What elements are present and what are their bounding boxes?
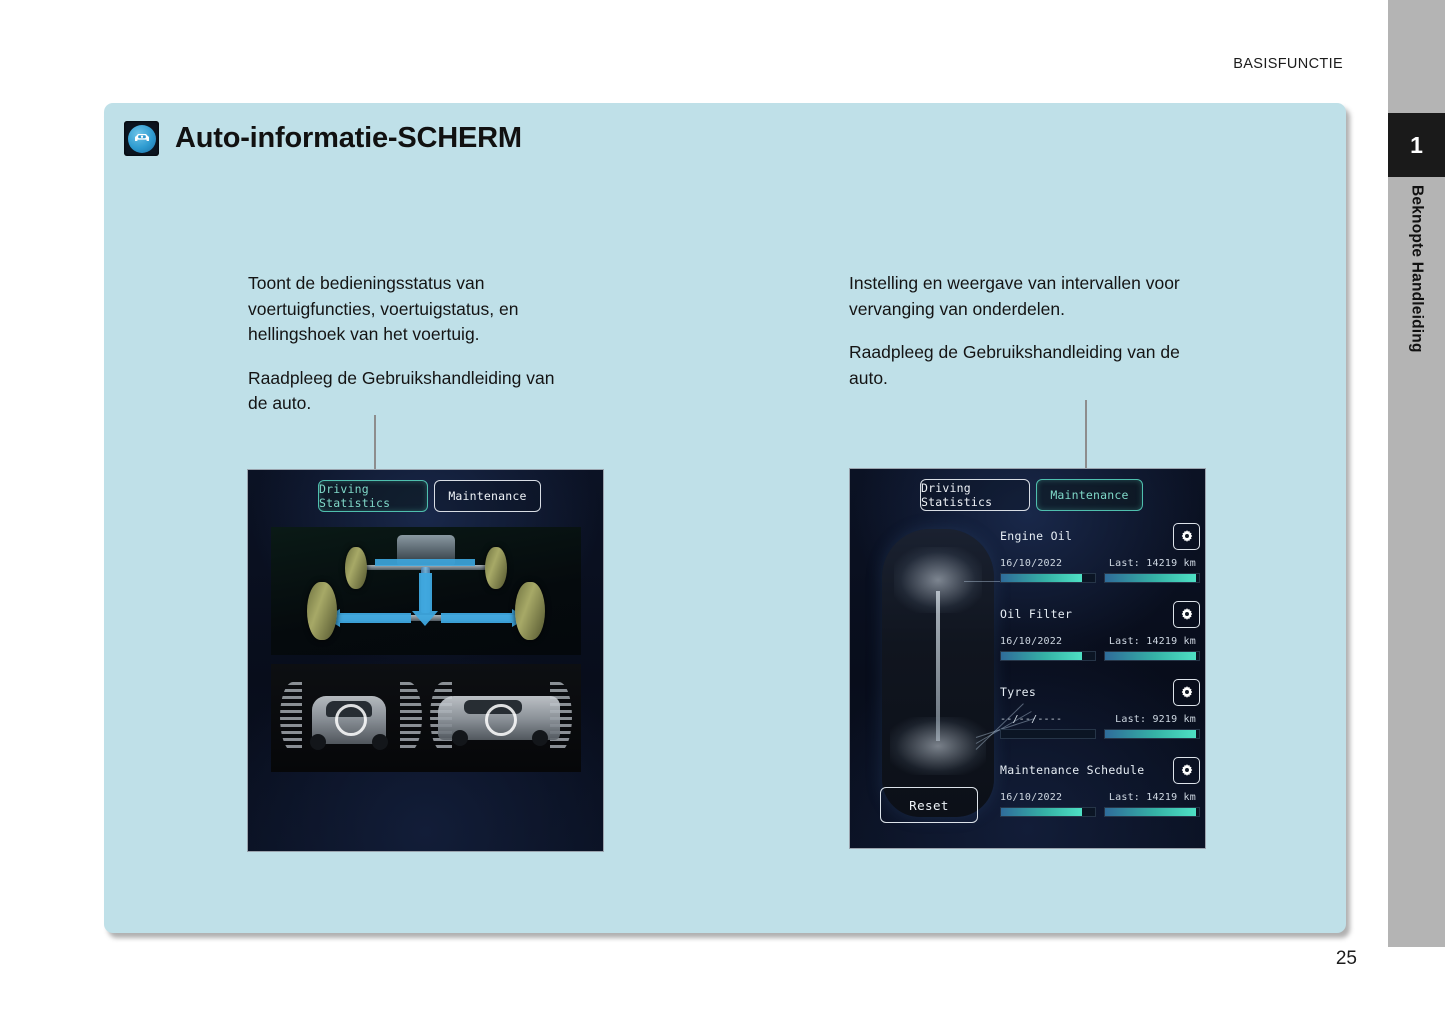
- vehicle-top-view-graphic: [868, 529, 1008, 829]
- tab-maintenance[interactable]: Maintenance: [1036, 479, 1143, 511]
- gear-icon-glyph: [1180, 763, 1194, 777]
- vehicle-info-icon: [124, 121, 159, 156]
- driving-statistics-screen: Driving Statistics Maintenance: [247, 469, 604, 852]
- section-title-row: Auto-informatie-SCHERM: [124, 121, 522, 156]
- maintenance-item-name: Engine Oil: [1000, 529, 1072, 543]
- tab-driving-statistics[interactable]: Driving Statistics: [920, 479, 1030, 511]
- distance-progress-fill: [1105, 808, 1196, 816]
- wheel-rear-left: [307, 582, 337, 640]
- distance-progress-fill: [1105, 730, 1196, 738]
- maintenance-item-bars: [1000, 729, 1200, 739]
- left-caption-secondary: Raadpleeg de Gebruikshandleiding van de …: [248, 366, 578, 417]
- maintenance-item-bars: [1000, 807, 1200, 817]
- maintenance-item-meta: 16/10/2022 Last: 14219 km: [1000, 792, 1200, 803]
- awd-torque-distribution-diagram: [271, 527, 581, 655]
- front-view-wheel-left: [310, 734, 326, 750]
- chapter-number-block: 1: [1388, 113, 1445, 177]
- interval-progress-bar: [1000, 573, 1096, 583]
- right-caption-primary: Instelling en weergave van intervallen v…: [849, 271, 1194, 322]
- pitch-angle-zero-indicator: [485, 704, 517, 736]
- maintenance-item-row: Maintenance Schedule 16/10/2022 Last: 14…: [1000, 755, 1200, 833]
- rear-suspension-graphic: [890, 717, 986, 775]
- chapter-number: 1: [1410, 132, 1423, 159]
- gear-icon-glyph: [1180, 685, 1194, 699]
- gear-icon-glyph: [1180, 529, 1194, 543]
- gear-icon[interactable]: [1173, 757, 1200, 784]
- wheel-rear-right: [515, 582, 545, 640]
- distance-progress-bar: [1104, 807, 1200, 817]
- front-view-wheel-right: [372, 734, 388, 750]
- wheel-front-right: [485, 547, 507, 589]
- chapter-label-vertical: Beknopte Handleiding: [1388, 185, 1445, 435]
- maintenance-item-header: Tyres: [1000, 677, 1200, 707]
- reset-button[interactable]: Reset: [880, 787, 978, 823]
- distance-progress-fill: [1105, 652, 1196, 660]
- maintenance-item-last: Last: 14219 km: [1109, 558, 1196, 569]
- front-torque-arrow: [375, 559, 475, 566]
- callout-leader-line-left: [374, 415, 376, 472]
- maintenance-item-last: Last: 14219 km: [1109, 636, 1196, 647]
- maintenance-item-header: Engine Oil: [1000, 521, 1200, 551]
- tab-maintenance[interactable]: Maintenance: [434, 480, 541, 512]
- interval-progress-fill: [1001, 574, 1082, 582]
- maintenance-item-date: 16/10/2022: [1000, 636, 1062, 647]
- roll-angle-zero-indicator: [335, 704, 367, 736]
- maintenance-item-last: Last: 14219 km: [1109, 792, 1196, 803]
- running-head: BASISFUNCTIE: [1233, 56, 1343, 72]
- maintenance-item-date: --/--/----: [1000, 714, 1062, 725]
- maintenance-item-name: Tyres: [1000, 685, 1036, 699]
- maintenance-item-row: Tyres --/--/---- Last: 9219 km: [1000, 677, 1200, 755]
- tab-driving-statistics-label: Driving Statistics: [319, 482, 427, 510]
- maintenance-item-bars: [1000, 573, 1200, 583]
- side-view-wheel-rear: [532, 730, 548, 746]
- maintenance-item-meta: 16/10/2022 Last: 14219 km: [1000, 636, 1200, 647]
- center-torque-arrow-down: [419, 573, 432, 613]
- maintenance-item-meta: 16/10/2022 Last: 14219 km: [1000, 558, 1200, 569]
- gear-icon[interactable]: [1173, 601, 1200, 628]
- distance-progress-bar: [1104, 651, 1200, 661]
- car-glyph-icon: [133, 132, 151, 145]
- distance-progress-fill: [1105, 574, 1196, 582]
- gear-icon-glyph: [1180, 607, 1194, 621]
- side-view-wheel-front: [452, 730, 468, 746]
- tab-driving-statistics-label: Driving Statistics: [921, 481, 1029, 509]
- gear-icon[interactable]: [1173, 679, 1200, 706]
- gear-icon[interactable]: [1173, 523, 1200, 550]
- right-screen-tabbar: Driving Statistics Maintenance: [850, 469, 1205, 521]
- reset-button-label: Reset: [909, 798, 949, 813]
- maintenance-item-row: Oil Filter 16/10/2022 Last: 14219 km: [1000, 599, 1200, 677]
- interval-progress-fill: [1001, 808, 1082, 816]
- roll-angle-gauge: [276, 678, 426, 758]
- roll-gauge-arc-right: [400, 682, 422, 752]
- maintenance-item-row: Engine Oil 16/10/2022 Last: 14219 km: [1000, 521, 1200, 599]
- rear-right-torque-arrow: [441, 613, 513, 623]
- maintenance-item-header: Oil Filter: [1000, 599, 1200, 629]
- rear-left-torque-arrow: [339, 613, 411, 623]
- page-number: 25: [1336, 948, 1357, 970]
- interval-progress-bar: [1000, 729, 1096, 739]
- wheel-front-left: [345, 547, 367, 589]
- interval-progress-bar: [1000, 807, 1096, 817]
- distance-progress-bar: [1104, 573, 1200, 583]
- callout-leader-line-right: [1085, 400, 1087, 470]
- tab-maintenance-label: Maintenance: [1050, 488, 1128, 502]
- chapter-label-text: Beknopte Handleiding: [1408, 185, 1426, 353]
- interval-progress-fill: [1001, 652, 1082, 660]
- maintenance-item-header: Maintenance Schedule: [1000, 755, 1200, 785]
- maintenance-item-bars: [1000, 651, 1200, 661]
- maintenance-item-date: 16/10/2022: [1000, 792, 1062, 803]
- chapter-side-rail: 1 Beknopte Handleiding: [1388, 0, 1445, 947]
- vehicle-inclination-angle-gauges: [271, 664, 581, 772]
- pitch-angle-gauge: [426, 678, 576, 758]
- tab-driving-statistics[interactable]: Driving Statistics: [318, 480, 428, 512]
- maintenance-item-name: Oil Filter: [1000, 607, 1072, 621]
- roll-gauge-arc-left: [280, 682, 302, 752]
- tab-maintenance-label: Maintenance: [448, 489, 526, 503]
- interval-progress-bar: [1000, 651, 1096, 661]
- maintenance-item-name: Maintenance Schedule: [1000, 763, 1144, 777]
- left-column: Toont de bedieningsstatus van voertuigfu…: [248, 271, 578, 417]
- left-screen-tabbar: Driving Statistics Maintenance: [248, 470, 603, 522]
- maintenance-item-last: Last: 9219 km: [1115, 714, 1196, 725]
- page-title: Auto-informatie-SCHERM: [175, 122, 522, 155]
- vehicle-info-icon-disc: [128, 125, 156, 153]
- maintenance-screen: Driving Statistics Maintenance Engine Oi…: [849, 468, 1206, 849]
- right-column: Instelling en weergave van intervallen v…: [849, 271, 1194, 391]
- maintenance-item-meta: --/--/---- Last: 9219 km: [1000, 714, 1200, 725]
- left-caption-primary: Toont de bedieningsstatus van voertuigfu…: [248, 271, 578, 348]
- maintenance-item-list: Engine Oil 16/10/2022 Last: 14219 km: [1000, 521, 1200, 833]
- distance-progress-bar: [1104, 729, 1200, 739]
- maintenance-item-date: 16/10/2022: [1000, 558, 1062, 569]
- right-caption-secondary: Raadpleeg de Gebruikshandleiding van de …: [849, 340, 1194, 391]
